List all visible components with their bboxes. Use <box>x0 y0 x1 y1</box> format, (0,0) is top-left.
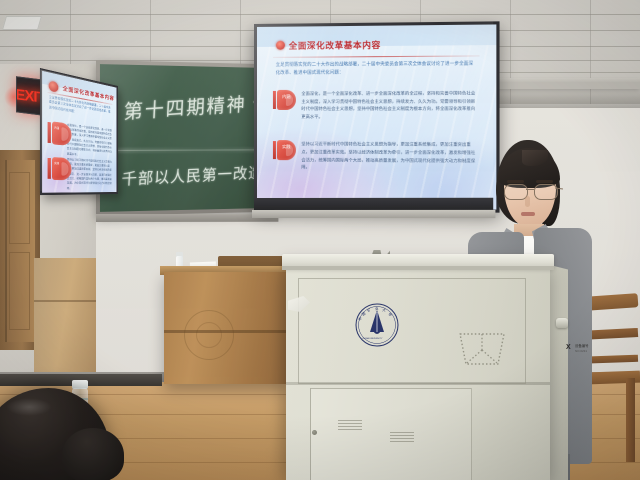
svg-text:设备编号: 设备编号 <box>575 343 589 348</box>
badge-label-2: 实践 <box>52 161 60 165</box>
slide-title-row: 全面深化改革基本内容 <box>276 38 477 52</box>
classroom-photo: EXIT 第十四期精神 十七期科学讲 千部以人民第一改造观教学活动 全面深化改革… <box>0 0 640 480</box>
speaker-grille-icon <box>454 328 510 370</box>
badge-icon-2: 实践 <box>48 157 62 171</box>
main-projection-screen: 全面深化改革基本内容 立足贯彻落实党的二十大作出的战略部署，二十届中央委员会第三… <box>254 21 500 212</box>
badge-label-1: 内涵 <box>279 94 293 100</box>
side-slide-block-2: 实践 坚持以习近平新时代中国特色社会主义思想为指导，更加注重系统集成，更加注重突… <box>48 157 112 192</box>
badge-blob <box>277 90 296 110</box>
presentation-slide: 全面深化改革基本内容 立足贯彻落实党的二十大作出的战略部署，二十届中央委员会第三… <box>257 24 496 209</box>
svg-text:NO.0231: NO.0231 <box>575 349 587 353</box>
presenter-eyebrow-left <box>507 180 524 183</box>
svg-text:大: 大 <box>382 307 387 313</box>
lectern-emblem-inner <box>196 322 222 348</box>
badge-icon-1: 内涵 <box>48 120 62 135</box>
blackboard-frame: 第十四期精神 十七期科学讲 千部以人民第一改造观教学活动 <box>96 60 278 216</box>
slide-block-1: 内涵 全面深化，是一个全面深化改革、进一步全面深化改革的全过程，坚持和完善中国特… <box>273 89 479 120</box>
podium-vent-lower <box>390 432 414 442</box>
door-panel-upper <box>9 172 30 244</box>
university-emblem: 中 国 矿 业 大 学 CHINA UNIVERSITY <box>354 302 400 348</box>
svg-text:X: X <box>566 344 571 351</box>
podium-vent-upper <box>338 420 362 430</box>
podium-asset-sticker: X 设备编号 NO.0231 <box>566 340 600 360</box>
party-emblem-icon <box>49 81 59 93</box>
slide-body-2: 坚持以习近平新时代中国特色社会主义思想为指导，更加注重系统集成，更加注重突出重点… <box>301 141 479 173</box>
cabinet-seam <box>34 300 96 302</box>
blackboard: 第十四期精神 十七期科学讲 千部以人民第一改造观教学活动 <box>100 64 275 212</box>
presenter-nose <box>525 196 530 207</box>
glasses-bridge <box>526 189 534 190</box>
chair-leg-right <box>626 378 635 462</box>
badge-label-2: 实践 <box>279 144 293 150</box>
party-emblem-icon <box>276 41 285 50</box>
badge-bar <box>273 91 276 109</box>
side-slide: 全面深化改革基本内容 立足贯彻落实党的二十大作出的战略部署，二十届中央委员会第三… <box>42 71 116 193</box>
foreground-hair-highlight <box>6 398 52 416</box>
side-slide-body-1: 全面深化，是一个全面深化改革、进一步全面深化改革的全过程，坚持和完善中国特色社会… <box>67 123 112 160</box>
exit-sign-glyph: EXIT <box>20 81 40 111</box>
ceiling-light-panel <box>2 16 42 30</box>
glasses-icon <box>503 184 559 198</box>
wooden-cabinet <box>34 258 96 378</box>
presenter-mouth <box>521 212 535 216</box>
badge-icon-1: 内涵 <box>273 90 296 110</box>
badge-bar <box>273 141 276 159</box>
side-projection-screen: 全面深化改革基本内容 立足贯彻落实党的二十大作出的战略部署，二十届中央委员会第三… <box>40 68 118 195</box>
blackboard-glare <box>100 64 275 212</box>
foreground-student-head-second <box>62 428 124 480</box>
screen-valance <box>252 210 495 218</box>
side-slide-body-2: 坚持以习近平新时代中国特色社会主义思想为指导，更加注重系统集成，更加注重突出重点… <box>67 158 112 192</box>
slide-lead-paragraph: 立足贯彻落实党的二十大作出的战略部署，二十届中央委员会第三次全体会议讨论了进一步… <box>276 60 477 77</box>
podium-desktop-edge <box>282 266 554 270</box>
slide-body-1: 全面深化，是一个全面深化改革、进一步全面深化改革的全过程，坚持和完善中国特色社会… <box>301 89 479 120</box>
podium-cabinet-lock[interactable] <box>312 430 317 435</box>
badge-icon-2: 实践 <box>273 140 296 160</box>
podium-side-knob[interactable] <box>556 318 568 328</box>
door-panel-lower <box>9 252 30 330</box>
slide-block-2: 实践 坚持以习近平新时代中国特色社会主义思想为指导，更加注重系统集成，更加注重突… <box>273 140 479 172</box>
svg-text:CHINA UNIVERSITY: CHINA UNIVERSITY <box>362 337 383 340</box>
presenter-eyebrow-right <box>536 180 553 183</box>
slide-title: 全面深化改革基本内容 <box>289 38 381 51</box>
